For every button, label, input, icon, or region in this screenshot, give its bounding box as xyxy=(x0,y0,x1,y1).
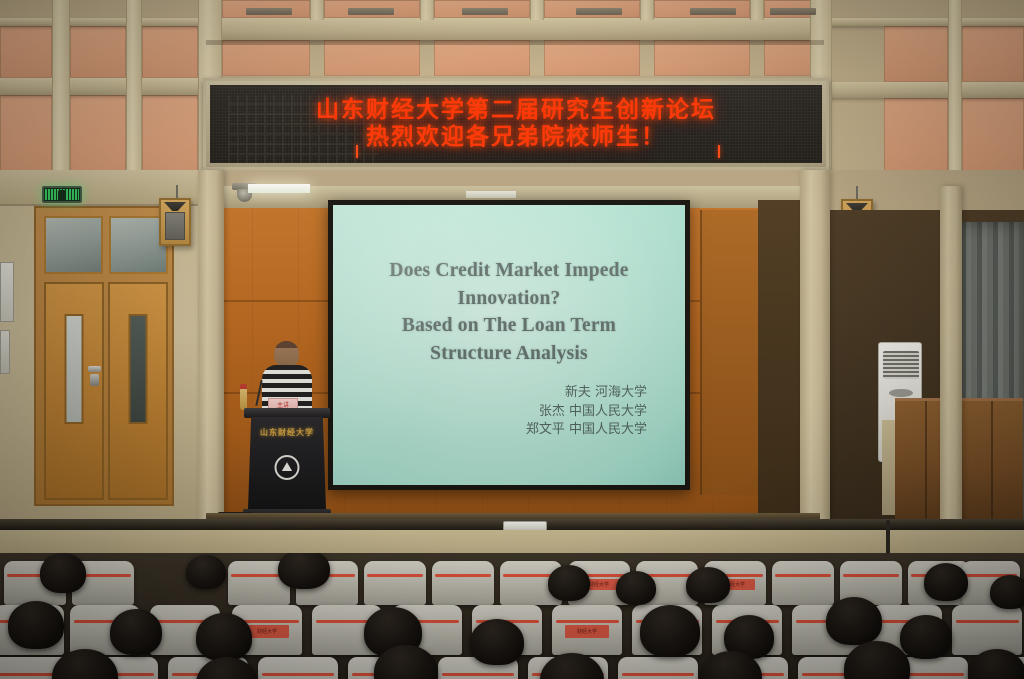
exit-sign xyxy=(42,186,82,203)
banner-line-2: 热烈欢迎各兄弟院校师生！ xyxy=(366,124,666,151)
slide-title-line: Innovation? xyxy=(349,285,669,313)
door-leaf-right[interactable] xyxy=(108,282,168,500)
water-bottle xyxy=(240,388,247,410)
ceiling-vent xyxy=(348,8,394,15)
wall-panel xyxy=(434,40,530,76)
audience-seat: 财经大学 xyxy=(552,605,622,655)
podium-body: 山东财经大学 ⛰ xyxy=(248,417,326,509)
led-banner: 山东财经大学第二届研究生创新论坛 热烈欢迎各兄弟院校师生！ xyxy=(203,78,829,170)
wall-cornice xyxy=(206,18,824,40)
running-man-icon xyxy=(58,190,66,201)
stage-dark-recess xyxy=(758,200,804,518)
door-leaf-left[interactable] xyxy=(44,282,104,500)
wall-pilaster xyxy=(948,0,962,186)
led-banner-panel: 山东财经大学第二届研究生创新论坛 热烈欢迎各兄弟院校师生！ xyxy=(210,85,822,163)
wall-notice-board xyxy=(0,330,10,374)
wall-shadow xyxy=(206,40,824,45)
audience-member-head xyxy=(900,615,952,659)
wall-notice-board xyxy=(0,262,14,322)
audience-seating-area: 财经大学财经大学财经大学财经大学 xyxy=(0,553,1024,679)
audience-member-head xyxy=(40,553,86,593)
ac-badge xyxy=(889,389,913,397)
wall-panel xyxy=(70,26,126,78)
speaker-cone-icon xyxy=(165,212,185,240)
stage-wood-right-panel xyxy=(700,210,758,495)
slide-content: Does Credit Market Impede Innovation? Ba… xyxy=(333,257,685,440)
led-tick-left xyxy=(356,145,358,158)
conference-hall-photo: 山东财经大学第二届研究生创新论坛 热烈欢迎各兄弟院校师生！ xyxy=(0,0,1024,679)
wall-speaker-left xyxy=(159,198,191,246)
audience-member-head xyxy=(196,613,252,661)
wall-pilaster xyxy=(420,0,434,20)
audience-member-head xyxy=(640,605,700,657)
wall-pilaster xyxy=(310,0,324,20)
audience-member-head xyxy=(278,553,330,589)
cabinet-seam xyxy=(925,401,927,523)
wall-panel xyxy=(0,26,52,78)
seat-headrest-tag: 财经大学 xyxy=(565,625,610,638)
audience-seat xyxy=(772,561,834,605)
wall-panel xyxy=(654,40,750,76)
projection-screen: Does Credit Market Impede Innovation? Ba… xyxy=(328,200,690,490)
audience-member-head xyxy=(826,597,882,645)
wall-pilaster xyxy=(52,0,70,186)
audience-seat xyxy=(432,561,494,605)
audience-seat xyxy=(364,561,426,605)
wall-pilaster xyxy=(530,0,544,20)
wall-panel xyxy=(544,40,640,76)
water-bottle-cap xyxy=(240,384,247,389)
speaker-horn-icon xyxy=(164,202,186,211)
wall-pilaster xyxy=(126,0,142,186)
audience-seat xyxy=(618,657,698,679)
projection-screen-surface: Does Credit Market Impede Innovation? Ba… xyxy=(333,205,685,485)
wall-cornice xyxy=(0,18,206,26)
slide-title-line: Based on The Loan Term xyxy=(349,312,669,340)
ceiling-vent xyxy=(576,8,622,15)
wall-cornice xyxy=(824,82,1024,98)
entrance-door[interactable] xyxy=(34,206,174,506)
door-glass-pane xyxy=(65,314,84,424)
wall-pilaster xyxy=(640,0,654,20)
door-lever-icon[interactable] xyxy=(90,374,99,386)
ceiling-vent xyxy=(462,8,508,15)
audience-member-head xyxy=(186,555,226,589)
slide-title-line: Does Credit Market Impede xyxy=(349,257,669,285)
speaker-hanger xyxy=(176,185,178,199)
banner-line-1: 山东财经大学第二届研究生创新论坛 xyxy=(316,97,716,124)
podium-institution-text: 山东财经大学 xyxy=(248,427,326,438)
ac-grille-icon xyxy=(883,351,919,379)
ceiling-light-strip xyxy=(248,184,310,193)
slide-author-line: 张杰 中国人民大学 xyxy=(349,403,647,422)
ceiling-vent xyxy=(770,8,816,15)
wall-panel xyxy=(324,40,420,76)
transom-glass-pane xyxy=(44,216,103,274)
audience-member-head xyxy=(924,563,968,601)
podium: 山东财经大学 ⛰ xyxy=(248,408,326,530)
stage-pillar-left xyxy=(198,170,224,522)
speaker-hanger xyxy=(856,186,858,200)
audience-member-head xyxy=(470,619,524,665)
university-logo-icon: ⛰ xyxy=(275,455,300,480)
ceiling-vent xyxy=(246,8,292,15)
stage-pillar-right xyxy=(800,170,830,522)
wall-cornice xyxy=(0,78,206,95)
ceiling-light-strip xyxy=(466,191,516,198)
side-pillar-right xyxy=(940,186,962,522)
audience-member-head xyxy=(8,601,64,649)
wall-cornice xyxy=(824,18,1024,26)
slide-author-line: 新夫 河海大学 xyxy=(349,384,647,403)
wall-pilaster xyxy=(750,0,764,20)
slide-author-line: 郑文平 中国人民大学 xyxy=(349,421,647,440)
audience-member-head xyxy=(990,575,1024,609)
led-tick-right xyxy=(718,145,720,158)
ceiling-vent xyxy=(690,8,736,15)
cabinet-seam xyxy=(991,401,993,523)
audience-member-head xyxy=(548,565,590,601)
wall-panel xyxy=(142,26,198,78)
wall-panel xyxy=(222,40,310,76)
slide-authors: 新夫 河海大学 张杰 中国人民大学 郑文平 中国人民大学 xyxy=(349,384,669,441)
door-handle-icon[interactable] xyxy=(88,366,101,372)
audience-seat xyxy=(258,657,338,679)
wall-panel xyxy=(962,26,1024,82)
audience-member-head xyxy=(110,609,162,655)
audience-seat xyxy=(952,605,1022,655)
podium-top-surface xyxy=(244,408,330,418)
audience-member-head xyxy=(616,571,656,605)
door-transom xyxy=(44,216,168,274)
door-glass-pane xyxy=(129,314,148,424)
slide-title-line: Structure Analysis xyxy=(349,340,669,368)
wall-panel xyxy=(884,26,948,82)
audience-member-head xyxy=(686,567,730,603)
